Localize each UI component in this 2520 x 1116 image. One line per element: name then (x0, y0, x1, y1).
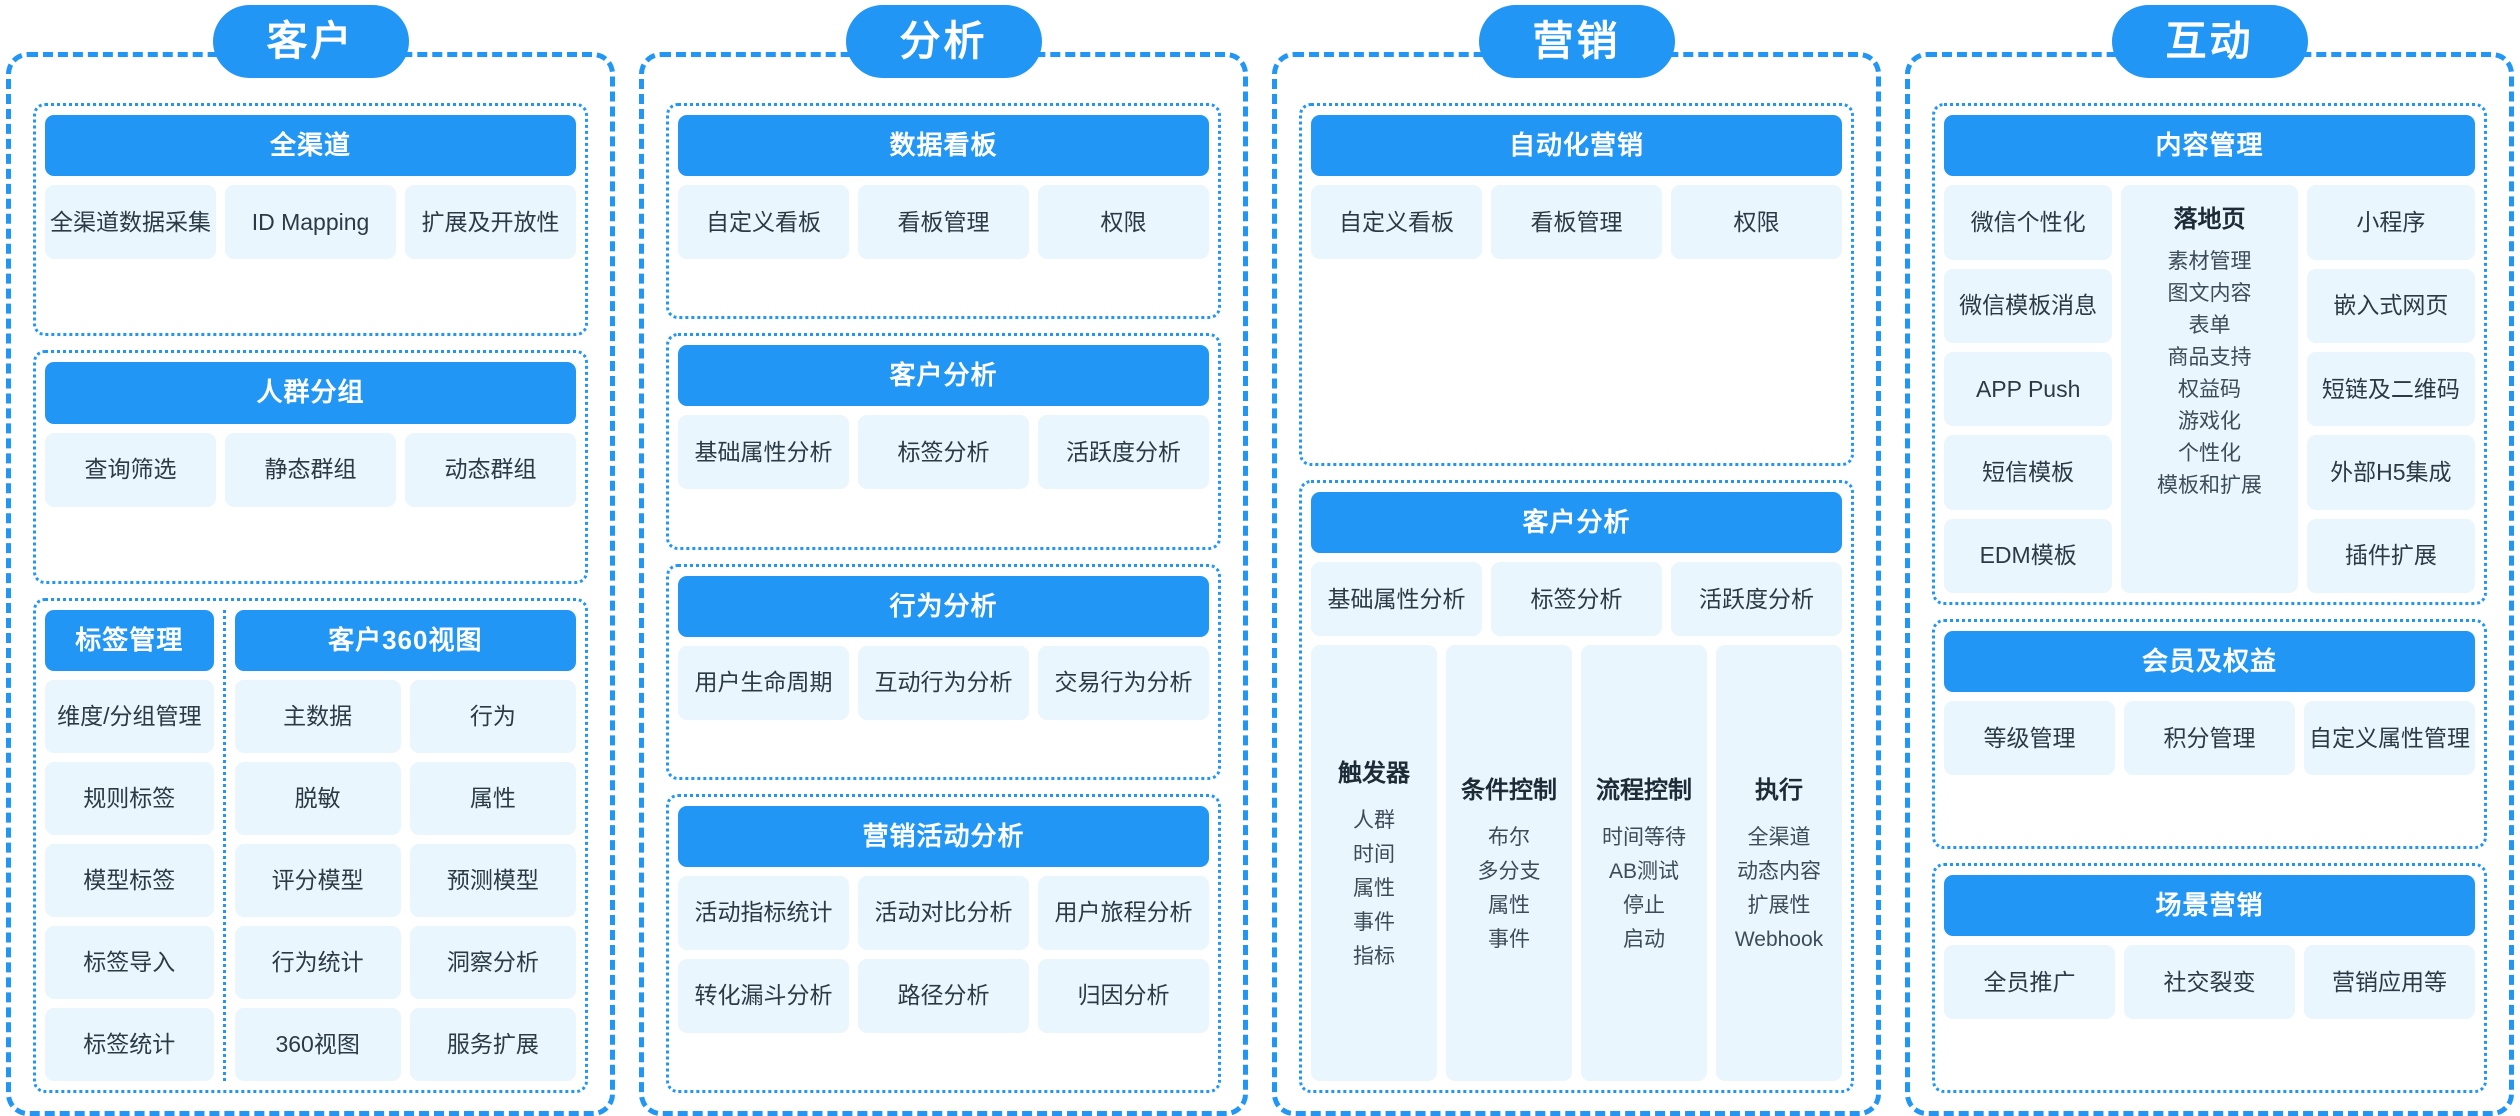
feature-cell[interactable]: 微信个性化 (1944, 185, 2112, 259)
feature-cell[interactable]: 看板管理 (1491, 185, 1662, 259)
feature-cell[interactable]: 行为统计 (235, 926, 401, 999)
list-cell-item: AB测试 (1609, 855, 1679, 889)
feature-cell[interactable]: 360视图 (235, 1008, 401, 1081)
feature-cell[interactable]: 全员推广 (1944, 945, 2115, 1019)
feature-cell[interactable]: 活跃度分析 (1038, 415, 1209, 489)
tri-mid-item: 游戏化 (2178, 406, 2241, 438)
column-panel-1: 客户全渠道全渠道数据采集ID Mapping扩展及开放性人群分组查询筛选静态群组… (6, 52, 615, 1116)
list-cell[interactable]: 流程控制时间等待AB测试停止启动 (1581, 645, 1707, 1081)
split-right-section: 客户360视图主数据行为脱敏属性评分模型预测模型行为统计洞察分析360视图服务扩… (226, 610, 576, 1081)
list-cell-title: 触发器 (1338, 753, 1410, 788)
list-cell-row: 触发器人群时间属性事件指标条件控制布尔多分支属性事件流程控制时间等待AB测试停止… (1311, 645, 1842, 1081)
tri-mid-item: 图文内容 (2167, 278, 2251, 310)
column-title-pill: 营销 (1479, 5, 1675, 78)
cell-row: 基础属性分析标签分析活跃度分析 (1311, 562, 1842, 636)
split-container: 标签管理维度/分组管理规则标签模型标签标签导入标签统计客户360视图主数据行为脱… (45, 610, 576, 1081)
feature-cell[interactable]: 外部H5集成 (2307, 435, 2475, 509)
group-heading: 全渠道 (45, 115, 576, 176)
group-heading: 标签管理 (45, 610, 214, 671)
group-1: 数据看板自定义看板看板管理权限 (666, 103, 1221, 319)
feature-cell[interactable]: 服务扩展 (410, 1008, 576, 1081)
tri-left-column: 微信个性化微信模板消息APP Push短信模板EDM模板 (1944, 185, 2112, 593)
feature-cell[interactable]: 动态群组 (405, 433, 576, 507)
feature-cell[interactable]: ID Mapping (225, 185, 396, 259)
group-1: 自动化营销自定义看板看板管理权限 (1299, 103, 1854, 466)
feature-cell[interactable]: 交易行为分析 (1038, 646, 1209, 720)
list-cell-item: 全渠道 (1748, 821, 1811, 855)
cell-row: 基础属性分析标签分析活跃度分析 (678, 415, 1209, 489)
feature-cell[interactable]: 路径分析 (858, 959, 1029, 1033)
feature-cell[interactable]: 基础属性分析 (1311, 562, 1482, 636)
column-panel-4: 互动内容管理微信个性化微信模板消息APP Push短信模板EDM模板落地页素材管… (1905, 52, 2514, 1116)
feature-cell[interactable]: 维度/分组管理 (45, 680, 214, 753)
cell-row: 行为统计洞察分析 (235, 926, 576, 999)
group-heading: 人群分组 (45, 362, 576, 423)
cell-row: 转化漏斗分析路径分析归因分析 (678, 959, 1209, 1033)
feature-cell[interactable]: 标签导入 (45, 926, 214, 999)
feature-cell[interactable]: 权限 (1038, 185, 1209, 259)
feature-cell[interactable]: 营销应用等 (2304, 945, 2475, 1019)
feature-cell[interactable]: 查询筛选 (45, 433, 216, 507)
feature-cell[interactable]: 活动指标统计 (678, 876, 849, 950)
list-cell-item: Webhook (1735, 923, 1823, 957)
feature-cell[interactable]: 短信模板 (1944, 435, 2112, 509)
feature-cell[interactable]: 静态群组 (225, 433, 396, 507)
cell-row: 活动指标统计活动对比分析用户旅程分析 (678, 876, 1209, 950)
column-title-pill: 客户 (213, 5, 409, 78)
tri-mid-item: 模板和扩展 (2157, 470, 2262, 502)
list-cell-item: 事件 (1353, 906, 1395, 940)
list-cell-item: 属性 (1488, 889, 1530, 923)
feature-cell[interactable]: 用户生命周期 (678, 646, 849, 720)
cell-row: 自定义看板看板管理权限 (678, 185, 1209, 259)
list-cell-item: 人群 (1353, 804, 1395, 838)
list-cell-title: 条件控制 (1461, 770, 1557, 805)
column-title-pill: 分析 (846, 5, 1042, 78)
cell-row: 查询筛选静态群组动态群组 (45, 433, 576, 507)
group-heading: 内容管理 (1944, 115, 2475, 176)
feature-cell[interactable]: 属性 (410, 762, 576, 835)
feature-cell[interactable]: 活动对比分析 (858, 876, 1029, 950)
group-heading: 客户分析 (1311, 492, 1842, 553)
capability-map-board: 客户全渠道全渠道数据采集ID Mapping扩展及开放性人群分组查询筛选静态群组… (0, 0, 2520, 1116)
feature-cell[interactable]: 归因分析 (1038, 959, 1209, 1033)
feature-cell[interactable]: APP Push (1944, 352, 2112, 426)
group-heading: 营销活动分析 (678, 806, 1209, 867)
tri-column-layout: 微信个性化微信模板消息APP Push短信模板EDM模板落地页素材管理图文内容表… (1944, 185, 2475, 593)
group-heading: 行为分析 (678, 576, 1209, 637)
list-cell-item: 布尔 (1488, 821, 1530, 855)
column-panel-2: 分析数据看板自定义看板看板管理权限客户分析基础属性分析标签分析活跃度分析行为分析… (639, 52, 1248, 1116)
tri-mid-item: 权益码 (2178, 374, 2241, 406)
feature-cell[interactable]: 小程序 (2307, 185, 2475, 259)
group-2: 人群分组查询筛选静态群组动态群组 (33, 350, 588, 583)
list-cell-item: 指标 (1353, 940, 1395, 974)
feature-cell[interactable]: 权限 (1671, 185, 1842, 259)
column-title-pill: 互动 (2112, 5, 2308, 78)
feature-cell[interactable]: 主数据 (235, 680, 401, 753)
feature-cell[interactable]: 嵌入式网页 (2307, 269, 2475, 343)
feature-cell[interactable]: 等级管理 (1944, 701, 2115, 775)
feature-cell[interactable]: 看板管理 (858, 185, 1029, 259)
feature-cell[interactable]: 微信模板消息 (1944, 269, 2112, 343)
column-panel-3: 营销自动化营销自定义看板看板管理权限客户分析基础属性分析标签分析活跃度分析触发器… (1272, 52, 1881, 1116)
cell-row: 用户生命周期互动行为分析交易行为分析 (678, 646, 1209, 720)
group-1: 全渠道全渠道数据采集ID Mapping扩展及开放性 (33, 103, 588, 336)
feature-cell[interactable]: 标签分析 (858, 415, 1029, 489)
tri-mid-item: 商品支持 (2167, 342, 2251, 374)
feature-cell[interactable]: 行为 (410, 680, 576, 753)
feature-cell[interactable]: 全渠道数据采集 (45, 185, 216, 259)
feature-cell[interactable]: 社交裂变 (2124, 945, 2295, 1019)
tri-mid-column[interactable]: 落地页素材管理图文内容表单商品支持权益码游戏化个性化模板和扩展 (2121, 185, 2297, 593)
group-2: 客户分析基础属性分析标签分析活跃度分析触发器人群时间属性事件指标条件控制布尔多分… (1299, 480, 1854, 1093)
group-2: 客户分析基础属性分析标签分析活跃度分析 (666, 333, 1221, 549)
feature-cell[interactable]: 预测模型 (410, 844, 576, 917)
feature-cell[interactable]: 规则标签 (45, 762, 214, 835)
list-cell-item: 启动 (1623, 923, 1665, 957)
list-cell-item: 扩展性 (1748, 889, 1811, 923)
feature-cell[interactable]: 洞察分析 (410, 926, 576, 999)
list-cell-item: 多分支 (1478, 855, 1541, 889)
group-2: 会员及权益等级管理积分管理自定义属性管理 (1932, 619, 2487, 849)
feature-cell[interactable]: 自定义属性管理 (2304, 701, 2475, 775)
cell-row: 自定义看板看板管理权限 (1311, 185, 1842, 259)
cell-row: 360视图服务扩展 (235, 1008, 576, 1081)
split-left-section: 标签管理维度/分组管理规则标签模型标签标签导入标签统计 (45, 610, 226, 1081)
feature-cell[interactable]: 转化漏斗分析 (678, 959, 849, 1033)
feature-cell[interactable]: EDM模板 (1944, 519, 2112, 593)
group-3: 行为分析用户生命周期互动行为分析交易行为分析 (666, 564, 1221, 780)
list-cell[interactable]: 条件控制布尔多分支属性事件 (1446, 645, 1572, 1081)
feature-cell[interactable]: 用户旅程分析 (1038, 876, 1209, 950)
group-4: 营销活动分析活动指标统计活动对比分析用户旅程分析转化漏斗分析路径分析归因分析 (666, 794, 1221, 1093)
list-cell-item: 时间 (1353, 838, 1395, 872)
tri-mid-item: 素材管理 (2167, 246, 2251, 278)
list-cell-item: 时间等待 (1602, 821, 1686, 855)
feature-cell[interactable]: 扩展及开放性 (405, 185, 576, 259)
group-heading: 自动化营销 (1311, 115, 1842, 176)
feature-cell[interactable]: 自定义看板 (678, 185, 849, 259)
group-heading: 客户360视图 (235, 610, 576, 671)
feature-cell[interactable]: 基础属性分析 (678, 415, 849, 489)
tri-mid-item: 表单 (2188, 310, 2230, 342)
cell-row: 全渠道数据采集ID Mapping扩展及开放性 (45, 185, 576, 259)
feature-cell[interactable]: 标签统计 (45, 1008, 214, 1081)
tri-right-column: 小程序嵌入式网页短链及二维码外部H5集成插件扩展 (2307, 185, 2475, 593)
list-cell[interactable]: 执行全渠道动态内容扩展性Webhook (1716, 645, 1842, 1081)
list-cell-title: 执行 (1755, 770, 1803, 805)
feature-cell[interactable]: 脱敏 (235, 762, 401, 835)
tri-mid-title: 落地页 (2173, 199, 2245, 234)
tri-mid-item: 个性化 (2178, 438, 2241, 470)
list-cell-item: 动态内容 (1737, 855, 1821, 889)
feature-cell[interactable]: 自定义看板 (1311, 185, 1482, 259)
group-heading: 场景营销 (1944, 875, 2475, 936)
feature-cell[interactable]: 模型标签 (45, 844, 214, 917)
cell-row: 脱敏属性 (235, 762, 576, 835)
group-heading: 客户分析 (678, 345, 1209, 406)
cell-row: 等级管理积分管理自定义属性管理 (1944, 701, 2475, 775)
cell-row: 全员推广社交裂变营销应用等 (1944, 945, 2475, 1019)
feature-cell[interactable]: 评分模型 (235, 844, 401, 917)
cell-row: 主数据行为 (235, 680, 576, 753)
list-cell[interactable]: 触发器人群时间属性事件指标 (1311, 645, 1437, 1081)
cell-row: 评分模型预测模型 (235, 844, 576, 917)
group-heading: 数据看板 (678, 115, 1209, 176)
feature-cell[interactable]: 互动行为分析 (858, 646, 1029, 720)
group-3: 场景营销全员推广社交裂变营销应用等 (1932, 863, 2487, 1093)
list-cell-title: 流程控制 (1596, 770, 1692, 805)
group-3: 标签管理维度/分组管理规则标签模型标签标签导入标签统计客户360视图主数据行为脱… (33, 598, 588, 1093)
list-cell-item: 属性 (1353, 872, 1395, 906)
left-cell-stack: 维度/分组管理规则标签模型标签标签导入标签统计 (45, 680, 214, 1081)
feature-cell[interactable]: 活跃度分析 (1671, 562, 1842, 636)
feature-cell[interactable]: 插件扩展 (2307, 519, 2475, 593)
list-cell-item: 停止 (1623, 889, 1665, 923)
group-1: 内容管理微信个性化微信模板消息APP Push短信模板EDM模板落地页素材管理图… (1932, 103, 2487, 605)
feature-cell[interactable]: 积分管理 (2124, 701, 2295, 775)
feature-cell[interactable]: 标签分析 (1491, 562, 1662, 636)
group-heading: 会员及权益 (1944, 631, 2475, 692)
feature-cell[interactable]: 短链及二维码 (2307, 352, 2475, 426)
list-cell-item: 事件 (1488, 923, 1530, 957)
